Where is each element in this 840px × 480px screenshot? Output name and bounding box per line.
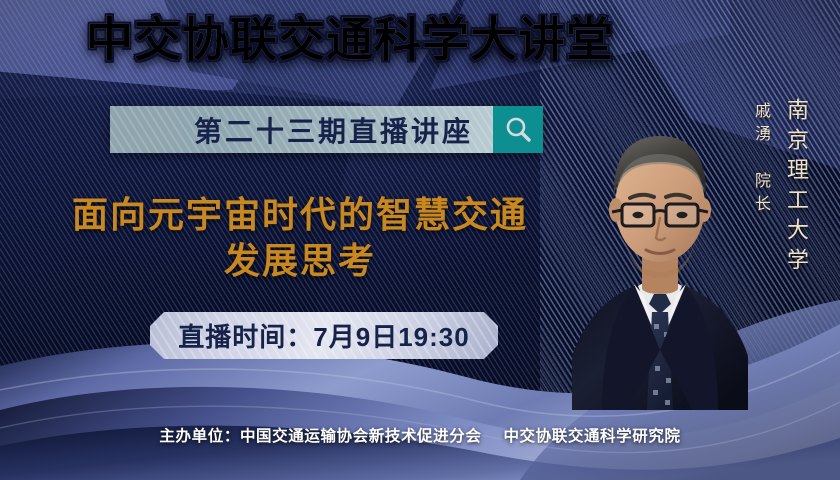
live-lecture-poster: 中交协联交通科学大讲堂 第二十三期直播讲座 面向元宇宙时代的智慧交通 发展思考 … [0, 0, 840, 480]
speaker-name-title: 戚湧 院长 [748, 102, 772, 218]
footer-org-1: 中国交通运输协会新技术促进分会 [240, 428, 482, 445]
page-title: 中交协联交通科学大讲堂 [0, 14, 700, 67]
session-bar-text: 第二十三期直播讲座 [110, 106, 493, 153]
lecture-title-line2: 发展思考 [0, 238, 600, 284]
schedule-text: 直播时间：7月9日19:30 [178, 317, 469, 354]
lecture-title: 面向元宇宙时代的智慧交通 发展思考 [0, 192, 600, 284]
lecture-title-line1: 面向元宇宙时代的智慧交通 [72, 194, 528, 235]
session-bar[interactable]: 第二十三期直播讲座 [110, 106, 543, 153]
schedule-banner: 直播时间：7月9日19:30 [150, 312, 498, 359]
search-icon[interactable] [493, 106, 543, 153]
footer-org-2: 中交协联交通科学研究院 [503, 428, 680, 445]
speaker-organization: 南京理工大学 [780, 98, 812, 278]
session-label: 第二十三期直播讲座 [194, 110, 473, 150]
footer-organizers: 主办单位：中国交通运输协会新技术促进分会中交协联交通科学研究院 [0, 424, 840, 446]
footer-prefix: 主办单位： [159, 428, 240, 445]
